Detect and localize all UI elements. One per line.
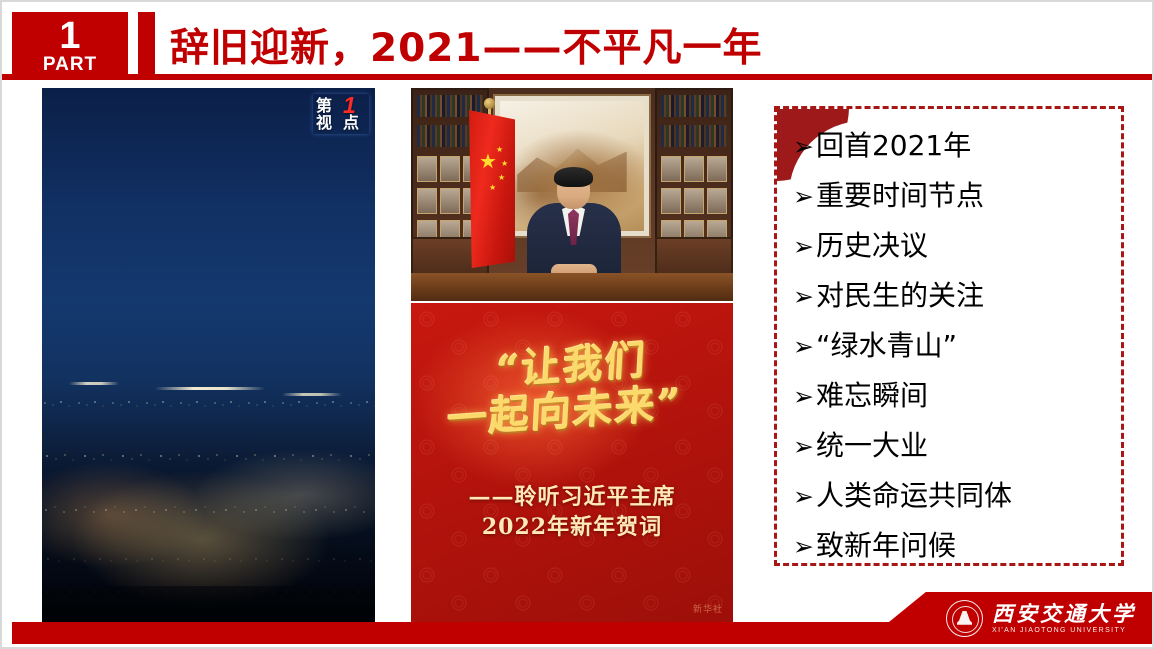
flag-finial: [484, 98, 495, 109]
foreground-ridge: [42, 586, 375, 623]
bullet-arrow-icon: ➢: [793, 472, 814, 521]
list-item-label: 致新年问候: [816, 521, 956, 566]
university-logo-text: 西安交通大学 XI'AN JIAOTONG UNIVERSITY: [992, 602, 1136, 634]
city-light-band: [42, 504, 375, 516]
flag-star-small: ★: [496, 146, 503, 154]
poster-credit: 新华社: [693, 602, 723, 615]
bullet-arrow-icon: ➢: [793, 172, 814, 221]
watermark-glyph-grid: 第 1 视 点: [315, 96, 367, 132]
outline-list: ➢ 回首2021年 ➢ 重要时间节点 ➢ 历史决议 ➢ 对民生的关注 ➢ “绿水…: [777, 109, 1121, 566]
flag-star-small: ★: [498, 174, 505, 182]
list-item[interactable]: ➢ 回首2021年: [793, 121, 1113, 171]
watermark-char-shi: 视: [316, 115, 332, 131]
university-name-en: XI'AN JIAOTONG UNIVERSITY: [992, 627, 1136, 634]
list-item-label: 人类命运共同体: [816, 471, 1012, 520]
header-accent-bar: [138, 12, 155, 80]
university-logo: 西安交通大学 XI'AN JIAOTONG UNIVERSITY: [946, 598, 1136, 638]
list-item-label: 统一大业: [816, 421, 928, 470]
china-flag: ★ ★ ★ ★ ★: [469, 110, 515, 268]
channel-watermark: 第 1 视 点: [313, 94, 369, 134]
part-number: 1: [59, 18, 80, 54]
flag-star-small: ★: [489, 184, 496, 192]
list-item[interactable]: ➢ 人类命运共同体: [793, 471, 1113, 521]
header-divider-rule: [2, 74, 1152, 80]
bullet-arrow-icon: ➢: [793, 272, 814, 321]
bell-icon: [957, 611, 972, 625]
list-item[interactable]: ➢ “绿水青山”: [793, 321, 1113, 371]
slide-canvas: 1 PART 辞旧迎新，2021——不平凡一年 第 1 视 点: [0, 0, 1154, 649]
speaker-hair: [554, 167, 593, 187]
list-item[interactable]: ➢ 历史决议: [793, 221, 1113, 271]
outline-box: ➢ 回首2021年 ➢ 重要时间节点 ➢ 历史决议 ➢ 对民生的关注 ➢ “绿水…: [774, 106, 1124, 566]
skyline-light-streak: [155, 387, 265, 390]
list-item[interactable]: ➢ 统一大业: [793, 421, 1113, 471]
poster-subtitle-line1: ——聆听习近平主席: [468, 482, 675, 512]
list-item[interactable]: ➢ 致新年问候: [793, 521, 1113, 566]
book-row: [661, 125, 727, 147]
list-item-label: 历史决议: [816, 221, 928, 270]
part-word-label: PART: [43, 55, 97, 74]
flag-star-small: ★: [501, 160, 508, 168]
bullet-arrow-icon: ➢: [793, 122, 814, 171]
city-light-band: [42, 451, 375, 463]
desk-surface: [411, 273, 733, 301]
bullet-arrow-icon: ➢: [793, 222, 814, 271]
bullet-arrow-icon: ➢: [793, 522, 814, 566]
bullet-arrow-icon: ➢: [793, 372, 814, 421]
city-light-band: [42, 554, 375, 564]
photo-frame-row: [661, 188, 727, 214]
flag-star-large: ★: [479, 152, 497, 172]
list-item[interactable]: ➢ 难忘瞬间: [793, 371, 1113, 421]
list-item-label: 重要时间节点: [816, 171, 984, 220]
bullet-arrow-icon: ➢: [793, 322, 814, 371]
part-number-badge: 1 PART: [12, 12, 128, 80]
list-item-label: “绿水青山”: [816, 321, 957, 370]
watermark-char-di: 第: [316, 98, 332, 114]
watermark-char-dian: 点: [343, 115, 359, 131]
poster-headline-line2: 一起向未来”: [447, 383, 684, 442]
city-light-band: [42, 399, 375, 409]
poster-subtitle: ——聆听习近平主席 2022年新年贺词: [468, 482, 675, 543]
list-item-label: 对民生的关注: [816, 271, 984, 320]
bookshelf-right: [655, 88, 733, 258]
university-name-cn: 西安交通大学: [992, 602, 1136, 625]
new-year-address-photo: ★ ★ ★ ★ ★: [411, 88, 733, 301]
poster-subtitle-line2: 2022年新年贺词: [468, 512, 675, 542]
list-item-label: 回首2021年: [816, 121, 971, 170]
list-item[interactable]: ➢ 重要时间节点: [793, 171, 1113, 221]
night-cityscape-image: 第 1 视 点: [42, 88, 375, 623]
new-year-greeting-poster: “让我们 一起向未来” ——聆听习近平主席 2022年新年贺词 新华社: [411, 303, 733, 623]
skyline-light-streak: [69, 382, 119, 385]
list-item[interactable]: ➢ 对民生的关注: [793, 271, 1113, 321]
poster-content: “让我们 一起向未来” ——聆听习近平主席 2022年新年贺词: [411, 303, 733, 623]
photo-frame-row: [661, 156, 727, 182]
university-emblem-icon: [946, 600, 983, 637]
skyline-light-streak: [282, 393, 342, 396]
book-row: [661, 95, 727, 117]
list-item-label: 难忘瞬间: [816, 371, 928, 420]
page-title: 辞旧迎新，2021——不平凡一年: [170, 16, 763, 74]
bullet-arrow-icon: ➢: [793, 422, 814, 471]
